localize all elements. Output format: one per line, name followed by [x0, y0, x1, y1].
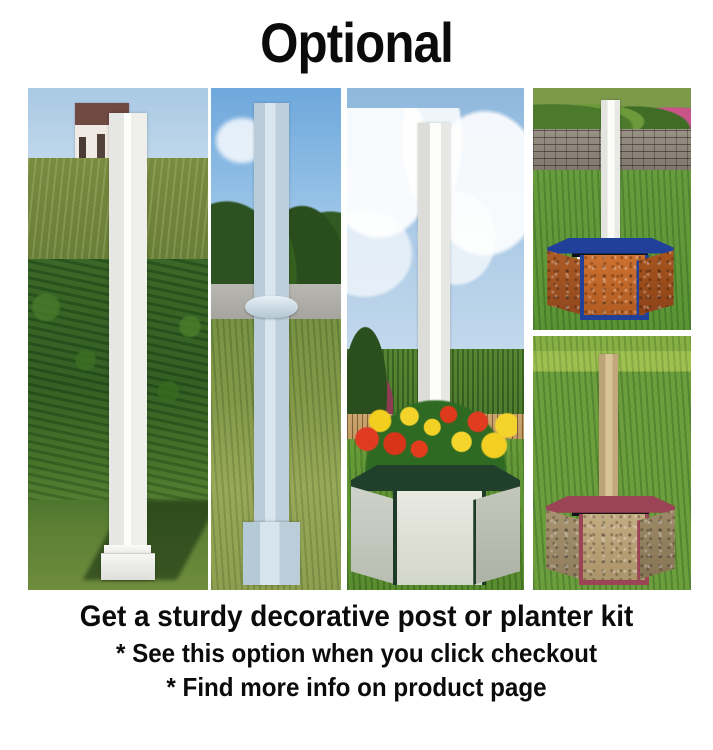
post-base-trim: [101, 553, 155, 580]
photo-post-flower-planter[interactable]: [347, 88, 524, 590]
photo-white-post-field[interactable]: [28, 88, 208, 590]
post-collar-trim: [245, 296, 298, 318]
optional-upsell-graphic: Optional: [0, 0, 713, 750]
planter-face-right: [636, 250, 673, 315]
planter-face-right: [637, 509, 675, 579]
page-title: Optional: [43, 12, 670, 74]
planter-face-left: [546, 509, 584, 579]
hexagonal-planter-kit: [547, 238, 673, 315]
panel-speckle-texture: [584, 255, 645, 315]
planter-rim: [351, 465, 521, 492]
white-post: [109, 113, 147, 580]
caption-headline: Get a sturdy decorative post or planter …: [25, 598, 688, 636]
planter-rim-blue: [547, 238, 673, 253]
panel-speckle-texture: [583, 514, 645, 579]
panel-speckle-texture: [640, 509, 675, 579]
panel-speckle-texture: [639, 250, 673, 315]
photo-pale-post-collar[interactable]: [211, 88, 341, 590]
caption-block: Get a sturdy decorative post or planter …: [0, 598, 713, 704]
caption-bullet-checkout: * See this option when you click checkou…: [25, 636, 688, 670]
photo-blue-trim-planter-kit[interactable]: [533, 88, 691, 330]
planter-face-left: [351, 486, 398, 585]
hexagonal-planter-box: [351, 465, 521, 585]
panel-speckle-texture: [546, 509, 581, 579]
post-base-skirt: [243, 522, 299, 585]
panel-speckle-texture: [547, 250, 581, 315]
hexagonal-planter-kit: [546, 496, 676, 580]
photo-cranberry-trim-planter-kit[interactable]: [533, 336, 691, 590]
planter-face-center: [393, 491, 486, 585]
planter-face-left: [547, 250, 584, 315]
product-photo-gallery: [0, 88, 713, 590]
planter-face-right: [473, 486, 520, 585]
pale-blue-post: [254, 103, 289, 585]
caption-bullet-product-page: * Find more info on product page: [25, 670, 688, 704]
planter-rim-cranberry: [546, 496, 676, 513]
